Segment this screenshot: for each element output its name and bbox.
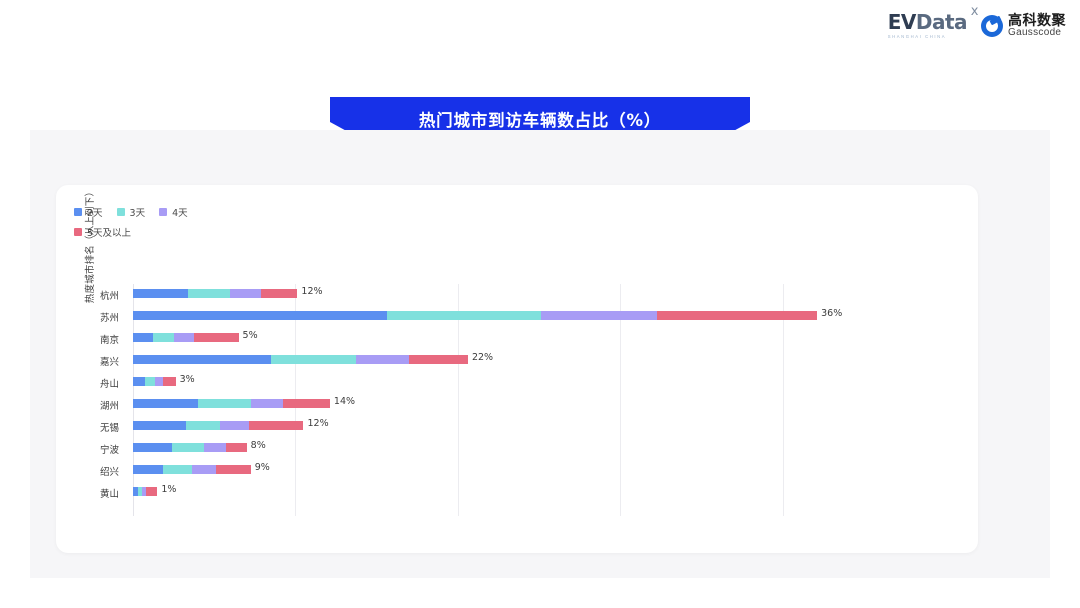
- gausscode-mark-icon: [981, 15, 1003, 37]
- bar-segment-3天[interactable]: [271, 355, 356, 364]
- chart-row[interactable]: 湖州14%: [0, 394, 1000, 416]
- bar-segment-2天[interactable]: [133, 289, 188, 298]
- bar-value-label: 12%: [308, 418, 329, 429]
- bar-segment-5天及以上[interactable]: [657, 311, 817, 320]
- bar-segment-3天[interactable]: [188, 289, 231, 298]
- bar-segment-2天[interactable]: [133, 355, 271, 364]
- bar-segment-2天[interactable]: [133, 421, 186, 430]
- legend-label: 4天: [172, 205, 188, 219]
- bar-value-label: 9%: [255, 462, 270, 473]
- bar-segment-4天[interactable]: [251, 399, 283, 408]
- legend-item-4天[interactable]: 4天: [159, 205, 188, 219]
- bar-segment-2天[interactable]: [133, 377, 145, 386]
- bar-segment-4天[interactable]: [174, 333, 194, 342]
- y-axis-tick-label: 湖州: [0, 398, 126, 412]
- bar-segment-3天[interactable]: [198, 399, 251, 408]
- gausscode-logo: 高科数聚 Gausscode: [981, 13, 1066, 38]
- bar-segment-3天[interactable]: [153, 333, 173, 342]
- bar-segment-5天及以上[interactable]: [194, 333, 239, 342]
- chart-row[interactable]: 黄山1%: [0, 482, 1000, 504]
- evdata-data-text: Data: [916, 10, 967, 34]
- bar-segment-2天[interactable]: [133, 399, 198, 408]
- legend-swatch-icon: [159, 208, 167, 216]
- bar-segment-4天[interactable]: [220, 421, 248, 430]
- legend-item-3天[interactable]: 3天: [117, 205, 146, 219]
- bar-segment-5天及以上[interactable]: [163, 377, 175, 386]
- stacked-bar[interactable]: [133, 421, 303, 430]
- y-axis-tick-label: 南京: [0, 332, 126, 346]
- stacked-bar[interactable]: [133, 487, 157, 496]
- chart-legend: 2天3天4天5天及以上: [74, 205, 404, 239]
- y-axis-tick-label: 杭州: [0, 288, 126, 302]
- bar-segment-5天及以上[interactable]: [409, 355, 468, 364]
- bar-segment-5天及以上[interactable]: [216, 465, 251, 474]
- stacked-bar[interactable]: [133, 443, 247, 452]
- chart-row[interactable]: 舟山3%: [0, 372, 1000, 394]
- chart-row[interactable]: 杭州12%: [0, 284, 1000, 306]
- evdata-superscript: x: [971, 5, 978, 18]
- logo-bar: EVDatax SHANGHAI CHINA 高科数聚 Gausscode: [888, 12, 1066, 39]
- bar-value-label: 3%: [180, 374, 195, 385]
- evdata-subtitle: SHANGHAI CHINA: [888, 34, 946, 39]
- y-axis-tick-label: 苏州: [0, 310, 126, 324]
- gausscode-en-name: Gausscode: [1008, 28, 1066, 39]
- y-axis-tick-label: 绍兴: [0, 464, 126, 478]
- evdata-wordmark: EVDatax: [888, 12, 967, 32]
- stacked-bar[interactable]: [133, 355, 468, 364]
- chart-row[interactable]: 南京5%: [0, 328, 1000, 350]
- chart-row[interactable]: 绍兴9%: [0, 460, 1000, 482]
- bar-value-label: 12%: [301, 286, 322, 297]
- chart-row[interactable]: 无锡12%: [0, 416, 1000, 438]
- bar-segment-5天及以上[interactable]: [261, 289, 298, 298]
- stacked-bar[interactable]: [133, 333, 239, 342]
- slide-root: EVDatax SHANGHAI CHINA 高科数聚 Gausscode 热门…: [0, 0, 1080, 608]
- y-axis-tick-label: 宁波: [0, 442, 126, 456]
- y-axis-tick-label: 舟山: [0, 376, 126, 390]
- chart-row[interactable]: 苏州36%: [0, 306, 1000, 328]
- bar-segment-3天[interactable]: [163, 465, 191, 474]
- bar-segment-4天[interactable]: [155, 377, 163, 386]
- bar-segment-4天[interactable]: [192, 465, 216, 474]
- bar-segment-5天及以上[interactable]: [226, 443, 246, 452]
- bar-segment-2天[interactable]: [133, 311, 387, 320]
- legend-swatch-icon: [117, 208, 125, 216]
- bar-segment-5天及以上[interactable]: [249, 421, 304, 430]
- y-axis-tick-label: 嘉兴: [0, 354, 126, 368]
- stacked-bar[interactable]: [133, 289, 297, 298]
- bar-segment-3天[interactable]: [172, 443, 204, 452]
- bar-segment-2天[interactable]: [133, 333, 153, 342]
- bar-segment-3天[interactable]: [387, 311, 541, 320]
- stacked-bar[interactable]: [133, 377, 176, 386]
- bar-segment-5天及以上[interactable]: [146, 487, 157, 496]
- stacked-bar[interactable]: [133, 399, 330, 408]
- legend-swatch-icon: [74, 208, 82, 216]
- stacked-bar[interactable]: [133, 465, 251, 474]
- evdata-logo: EVDatax SHANGHAI CHINA: [888, 12, 967, 39]
- gausscode-text: 高科数聚 Gausscode: [1008, 13, 1066, 38]
- bar-value-label: 22%: [472, 352, 493, 363]
- bar-segment-4天[interactable]: [204, 443, 226, 452]
- y-axis-tick-label: 黄山: [0, 486, 126, 500]
- bar-segment-2天[interactable]: [133, 443, 172, 452]
- bar-segment-4天[interactable]: [230, 289, 260, 298]
- chart-rows: 杭州12%苏州36%南京5%嘉兴22%舟山3%湖州14%无锡12%宁波8%绍兴9…: [0, 284, 1000, 504]
- bar-segment-2天[interactable]: [133, 465, 163, 474]
- bar-value-label: 5%: [243, 330, 258, 341]
- evdata-ev-text: EV: [888, 10, 916, 34]
- bar-value-label: 8%: [251, 440, 266, 451]
- bar-segment-3天[interactable]: [186, 421, 221, 430]
- stacked-bar[interactable]: [133, 311, 817, 320]
- chart-row[interactable]: 嘉兴22%: [0, 350, 1000, 372]
- bar-segment-5天及以上[interactable]: [283, 399, 330, 408]
- y-axis-tick-label: 无锡: [0, 420, 126, 434]
- gausscode-cn-name: 高科数聚: [1008, 13, 1066, 28]
- legend-label: 3天: [130, 205, 146, 219]
- bar-segment-4天[interactable]: [356, 355, 409, 364]
- chart-row[interactable]: 宁波8%: [0, 438, 1000, 460]
- legend-swatch-icon: [74, 228, 82, 236]
- bar-segment-3天[interactable]: [145, 377, 155, 386]
- bar-value-label: 1%: [161, 484, 176, 495]
- bar-value-label: 36%: [821, 308, 842, 319]
- bar-segment-4天[interactable]: [541, 311, 657, 320]
- page-title: 热门城市到访车辆数占比（%）: [419, 107, 661, 131]
- bar-value-label: 14%: [334, 396, 355, 407]
